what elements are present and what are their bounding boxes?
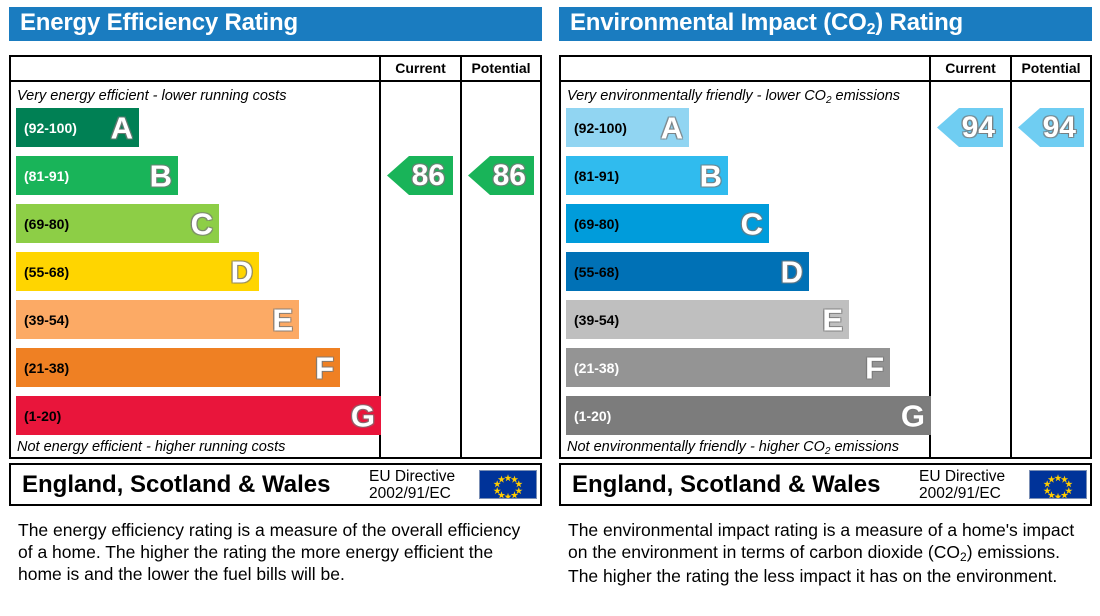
band-row-d: (55-68) D <box>16 252 259 291</box>
energy-bands-list: (92-100) A (81-91) B (69-80) C (55-68) D… <box>11 57 379 457</box>
environmental-description: The environmental impact rating is a mea… <box>568 519 1078 587</box>
band-range-d: (55-68) <box>24 264 69 280</box>
band-letter-a: A <box>661 112 683 143</box>
band-letter-d: D <box>781 256 803 287</box>
band-row-b: (81-91) B <box>16 156 178 195</box>
band-range-c: (69-80) <box>24 216 69 232</box>
environmental-bands-list: (92-100) A (81-91) B (69-80) C (55-68) D… <box>561 57 929 457</box>
eu-stars-icon <box>480 471 536 498</box>
directive-line-1: EU Directive <box>919 468 1005 485</box>
co2-subscript: 2 <box>867 21 876 38</box>
band-row-g: (1-20) G <box>566 396 931 435</box>
environmental-impact-title-bar: Environmental Impact (CO2) Rating <box>559 7 1092 41</box>
band-row-c: (69-80) C <box>566 204 769 243</box>
environmental-impact-table: Current Potential Very environmentally f… <box>559 55 1092 459</box>
caption-bottom-suffix: emissions <box>830 439 899 455</box>
column-divider-2 <box>1010 57 1012 457</box>
caption-bottom-prefix: Not environmentally friendly - higher CO <box>567 439 825 455</box>
band-range-f: (21-38) <box>574 360 619 376</box>
eu-flag-icon <box>1029 470 1087 499</box>
band-letter-b: B <box>150 160 172 191</box>
band-letter-b: B <box>700 160 722 191</box>
potential-rating-arrow: 94 <box>1018 108 1084 147</box>
band-row-f: (21-38) F <box>566 348 890 387</box>
band-row-f: (21-38) F <box>16 348 340 387</box>
band-row-b: (81-91) B <box>566 156 728 195</box>
current-rating-value: 86 <box>412 161 445 191</box>
column-header-potential: Potential <box>462 60 540 76</box>
band-range-a: (92-100) <box>574 120 627 136</box>
band-row-a: (92-100) A <box>566 108 689 147</box>
potential-rating-arrow: 86 <box>468 156 534 195</box>
band-range-b: (81-91) <box>574 168 619 184</box>
band-range-a: (92-100) <box>24 120 77 136</box>
energy-efficiency-table: Current Potential Very energy efficient … <box>9 55 542 459</box>
eu-stars-icon <box>1030 471 1086 498</box>
directive-line-1: EU Directive <box>369 468 455 485</box>
column-divider-2 <box>460 57 462 457</box>
band-letter-e: E <box>272 304 293 335</box>
directive-line-2: 2002/91/EC <box>369 485 451 502</box>
title-prefix: Environmental Impact (CO <box>570 9 867 36</box>
band-letter-g: G <box>901 400 925 431</box>
caption-bottom: Not environmentally friendly - higher CO… <box>567 439 923 455</box>
potential-rating-value: 94 <box>1043 113 1076 143</box>
band-range-c: (69-80) <box>574 216 619 232</box>
epc-ratings-page: Energy Efficiency Rating Current Potenti… <box>0 0 1100 616</box>
footer-directive: EU Directive 2002/91/EC <box>919 469 1005 502</box>
energy-efficiency-panel: Energy Efficiency Rating Current Potenti… <box>0 0 550 616</box>
co2-subscript: 2 <box>825 446 831 457</box>
band-row-e: (39-54) E <box>16 300 299 339</box>
band-range-e: (39-54) <box>574 312 619 328</box>
band-letter-f: F <box>315 352 334 383</box>
footer-bar: England, Scotland & Wales EU Directive 2… <box>559 463 1092 506</box>
current-rating-arrow: 94 <box>937 108 1003 147</box>
band-row-d: (55-68) D <box>566 252 809 291</box>
band-range-g: (1-20) <box>24 408 61 424</box>
environmental-impact-panel: Environmental Impact (CO2) Rating Curren… <box>550 0 1100 616</box>
directive-line-2: 2002/91/EC <box>919 485 1001 502</box>
band-letter-e: E <box>822 304 843 335</box>
band-letter-g: G <box>351 400 375 431</box>
footer-region-label: England, Scotland & Wales <box>572 471 880 499</box>
band-range-e: (39-54) <box>24 312 69 328</box>
page-title-environmental: Environmental Impact (CO2) Rating <box>570 9 963 37</box>
current-rating-value: 94 <box>962 113 995 143</box>
eu-flag-icon <box>479 470 537 499</box>
potential-rating-value: 86 <box>493 161 526 191</box>
co2-subscript: 2 <box>960 550 967 564</box>
energy-description: The energy efficiency rating is a measur… <box>18 519 528 585</box>
band-row-g: (1-20) G <box>16 396 381 435</box>
current-rating-arrow: 86 <box>387 156 453 195</box>
energy-efficiency-title-bar: Energy Efficiency Rating <box>9 7 542 41</box>
footer-bar: England, Scotland & Wales EU Directive 2… <box>9 463 542 506</box>
page-title: Energy Efficiency Rating <box>20 9 298 37</box>
title-suffix: ) Rating <box>875 9 963 36</box>
footer-directive: EU Directive 2002/91/EC <box>369 469 455 502</box>
band-letter-c: C <box>191 208 213 239</box>
column-header-current: Current <box>381 60 460 76</box>
column-header-current: Current <box>931 60 1010 76</box>
band-range-g: (1-20) <box>574 408 611 424</box>
band-row-a: (92-100) A <box>16 108 139 147</box>
column-header-potential: Potential <box>1012 60 1090 76</box>
band-letter-d: D <box>231 256 253 287</box>
band-range-d: (55-68) <box>574 264 619 280</box>
band-row-e: (39-54) E <box>566 300 849 339</box>
footer-region-label: England, Scotland & Wales <box>22 471 330 499</box>
band-range-b: (81-91) <box>24 168 69 184</box>
band-letter-c: C <box>741 208 763 239</box>
band-letter-a: A <box>111 112 133 143</box>
caption-bottom: Not energy efficient - higher running co… <box>17 439 373 455</box>
band-letter-f: F <box>865 352 884 383</box>
band-range-f: (21-38) <box>24 360 69 376</box>
band-row-c: (69-80) C <box>16 204 219 243</box>
